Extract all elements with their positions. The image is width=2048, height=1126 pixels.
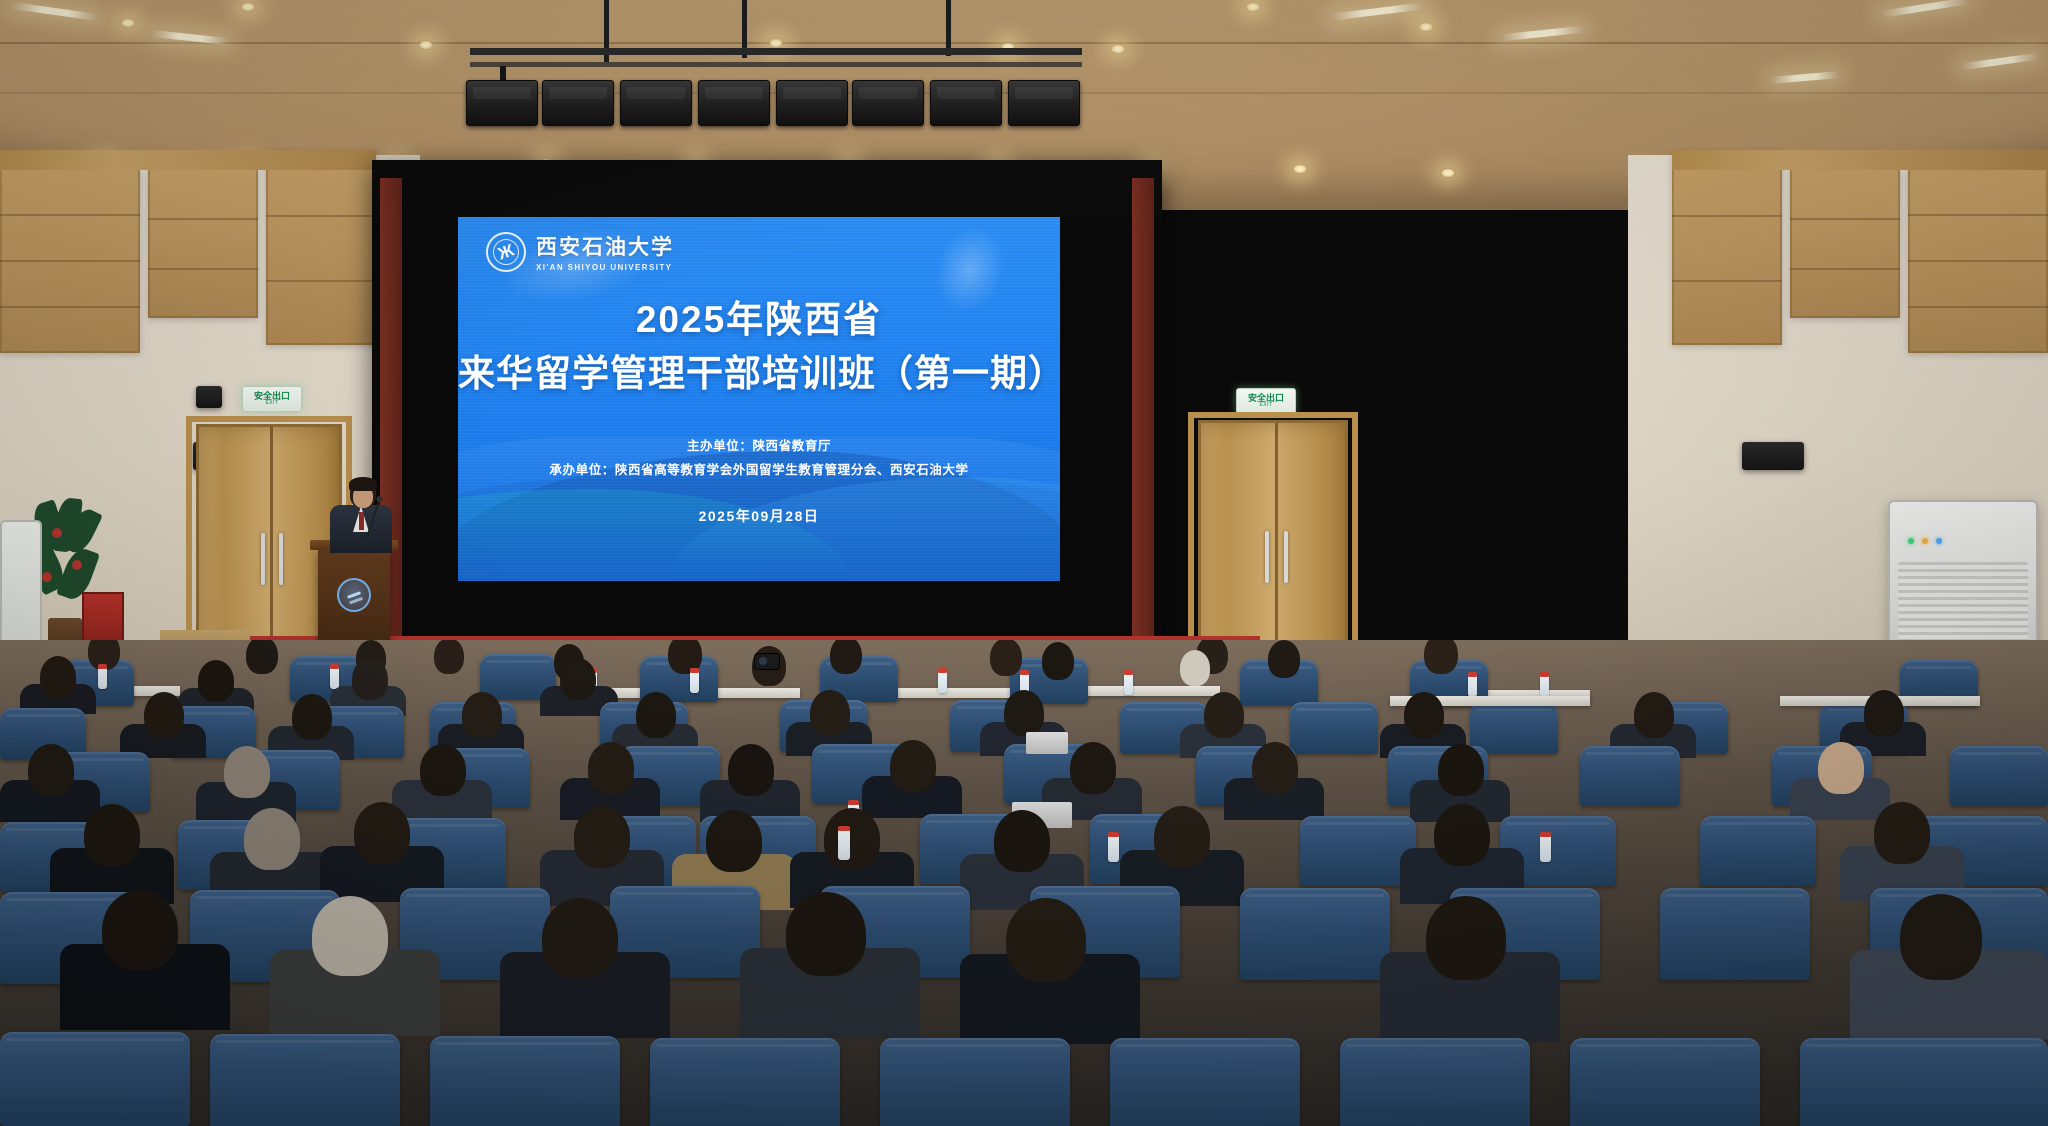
audience-person — [28, 744, 74, 796]
truss-bar — [470, 48, 1082, 55]
audience-person — [542, 898, 618, 978]
audience-person — [1900, 894, 1982, 980]
audience-person — [354, 802, 410, 864]
led-screen[interactable]: Ж 西安石油大学 XI'AN SHIYOU UNIVERSITY 2025年陕西… — [458, 217, 1060, 581]
ceiling-downlight — [418, 40, 434, 50]
audience-person — [1426, 896, 1506, 980]
wall-speaker — [1742, 442, 1804, 470]
audience-person — [244, 808, 300, 870]
wall-wood-panel — [0, 168, 140, 353]
audience-seat — [430, 1036, 620, 1126]
audience-area — [0, 640, 2048, 1126]
screen-organizer-line: 主办单位：陕西省教育厅 — [458, 435, 1060, 459]
par-can-light — [620, 80, 692, 126]
exit-sign-label-en: EXIT — [1259, 403, 1272, 408]
audience-person — [1404, 692, 1444, 738]
ceiling-downlight — [240, 2, 256, 12]
audience-seat — [1700, 816, 1816, 886]
audience-seat — [1110, 1038, 1300, 1126]
audience-person — [1180, 650, 1210, 686]
audience-seat — [1950, 746, 2048, 806]
ceiling-downlight — [1418, 22, 1434, 32]
screen-host-line: 承办单位：陕西省高等教育学会外国留学生教育管理分会、西安石油大学 — [458, 459, 1060, 483]
ceiling-downlight — [120, 18, 136, 28]
wall-wood-panel — [1672, 150, 1782, 345]
audience-person — [84, 804, 140, 866]
wall-trim — [0, 150, 376, 170]
ac-status-led — [1908, 538, 1914, 544]
audience-person — [990, 640, 1022, 676]
audience-person — [1204, 692, 1244, 738]
audience-person — [352, 658, 388, 700]
audience-person — [1874, 802, 1930, 864]
audience-person — [144, 692, 184, 738]
audience-person — [1268, 640, 1300, 678]
audience-person — [1004, 690, 1044, 736]
conference-hall-photo: 安全出口 EXIT 安全出口 EXIT Ж — [0, 0, 2048, 1126]
audience-person — [728, 744, 774, 796]
ceiling-downlight — [1110, 44, 1126, 54]
audience-person — [198, 660, 234, 702]
ceiling-downlight — [1245, 2, 1261, 12]
audience-person — [786, 892, 866, 976]
audience-person — [890, 740, 936, 792]
speaker-hair — [349, 477, 377, 491]
audience-person — [574, 806, 630, 868]
speaker-tie — [359, 512, 364, 530]
university-emblem-icon — [337, 578, 371, 612]
audience-person — [1424, 640, 1458, 674]
par-can-light — [930, 80, 1002, 126]
audience-person — [246, 640, 278, 674]
wall-wood-panel — [1908, 168, 2048, 353]
audience-person — [312, 896, 388, 976]
ac-status-led — [1922, 538, 1928, 544]
wall-wood-panel — [1790, 168, 1900, 318]
audience-person — [810, 690, 850, 736]
exit-sign-left: 安全出口 EXIT — [242, 386, 302, 412]
ac-grille — [1898, 562, 2028, 648]
par-can-light — [852, 80, 924, 126]
smartphone-icon — [755, 654, 779, 669]
screen-header-bar — [372, 160, 1162, 218]
audience-seat — [210, 1034, 400, 1126]
audience-seat — [1470, 702, 1558, 754]
wall-trim — [1672, 150, 2048, 170]
exit-door-right[interactable] — [1198, 420, 1348, 664]
audience-person — [706, 810, 762, 872]
audience-person — [434, 640, 464, 674]
wall-wood-panel — [148, 168, 258, 318]
audience-person — [420, 744, 466, 796]
audience-seat — [1290, 702, 1378, 754]
audience-person — [462, 692, 502, 738]
exit-sign-right: 安全出口 EXIT — [1236, 388, 1296, 414]
audience-person — [102, 890, 178, 970]
audience-seat — [1660, 888, 1810, 980]
audience-person — [292, 694, 332, 740]
audience-person — [994, 810, 1050, 872]
audience-person — [824, 808, 880, 870]
audience-person — [830, 640, 862, 674]
audience-person — [224, 746, 270, 798]
truss-bar — [470, 62, 1082, 67]
audience-seat — [1580, 746, 1680, 806]
par-can-light — [1008, 80, 1080, 126]
audience-person — [588, 742, 634, 794]
audience-seat — [1340, 1038, 1530, 1126]
audience-seat — [650, 1038, 840, 1126]
audience-person — [636, 692, 676, 738]
audience-person — [1070, 742, 1116, 794]
audience-person — [1818, 742, 1864, 794]
wall-wood-panel — [266, 150, 376, 345]
stage-curtain-right — [1132, 178, 1154, 646]
ceiling-downlight — [1292, 164, 1308, 174]
audience-person — [1006, 898, 1086, 982]
screen-title-line-2: 来华留学管理干部培训班（第一期） — [458, 349, 1060, 399]
audience-seat — [0, 1032, 190, 1126]
audience-person — [560, 658, 596, 700]
par-can-light — [466, 80, 538, 126]
audience-person — [1154, 806, 1210, 868]
ceiling-seam — [0, 42, 2048, 44]
screen-date: 2025年09月28日 — [458, 506, 1060, 526]
audience-seat — [880, 1038, 1070, 1126]
audience-seat — [1570, 1038, 1760, 1126]
ceiling-downlight — [768, 38, 784, 48]
audience-person — [40, 656, 76, 698]
audience-person — [1252, 742, 1298, 794]
par-can-light — [542, 80, 614, 126]
par-can-light — [776, 80, 848, 126]
exit-sign-label-en: EXIT — [265, 401, 278, 406]
par-can-light — [698, 80, 770, 126]
audience-person — [1438, 744, 1484, 796]
audience-person — [1634, 692, 1674, 738]
laptop-icon — [1026, 732, 1068, 754]
audience-person — [1434, 804, 1490, 866]
wall-camera — [196, 386, 222, 408]
audience-person — [1864, 690, 1904, 736]
audience-seat — [1240, 888, 1390, 980]
audience-person — [1042, 642, 1074, 680]
ac-status-led — [1936, 538, 1942, 544]
screen-organizer-block: 主办单位：陕西省教育厅 承办单位：陕西省高等教育学会外国留学生教育管理分会、西安… — [458, 435, 1060, 483]
audience-seat — [1300, 816, 1416, 886]
audience-seat — [1800, 1038, 2048, 1126]
ceiling-downlight — [1440, 168, 1456, 178]
